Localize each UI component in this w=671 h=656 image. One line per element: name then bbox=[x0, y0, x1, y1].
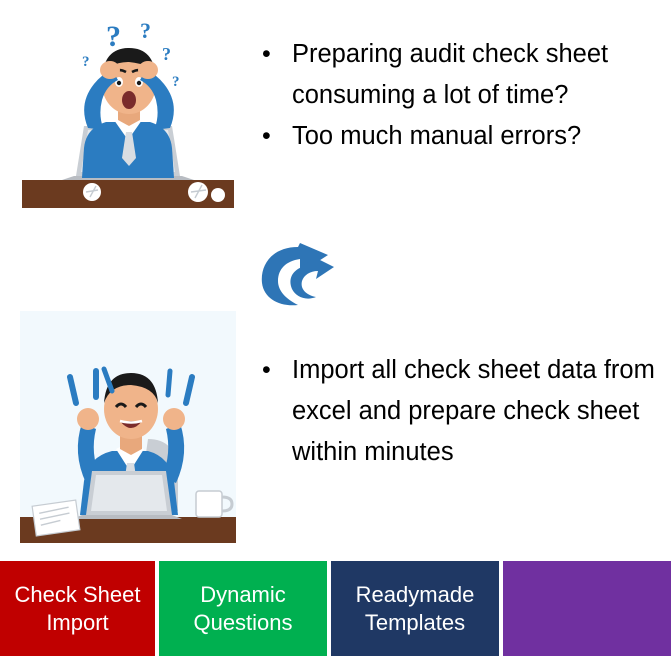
list-item: • Too much manual errors? bbox=[258, 116, 668, 157]
arrow-svg bbox=[258, 243, 338, 309]
bullet-icon: • bbox=[262, 34, 271, 75]
list-item: • Preparing audit check sheet consuming … bbox=[258, 34, 668, 116]
solution-bullet-list: • Import all check sheet data from excel… bbox=[258, 350, 671, 473]
frustrated-office-worker-illustration: ? ? ? ? ? bbox=[22, 8, 234, 208]
bullet-icon: • bbox=[262, 116, 271, 157]
frustrated-worker-svg: ? ? ? ? ? bbox=[22, 8, 234, 208]
feature-tile-label: Readymade Templates bbox=[337, 581, 493, 637]
problem-section: ? ? ? ? ? • Preparing audit check sheet … bbox=[0, 0, 671, 215]
problem-bullet-list: • Preparing audit check sheet consuming … bbox=[258, 34, 668, 157]
feature-tile-label: Dynamic Questions bbox=[165, 581, 321, 637]
svg-text:?: ? bbox=[140, 18, 151, 43]
feature-tile-label: Check Sheet Import bbox=[6, 581, 149, 637]
feature-tile-purple[interactable] bbox=[503, 561, 671, 656]
feature-bar: Check Sheet Import Dynamic Questions Rea… bbox=[0, 561, 671, 656]
happy-office-worker-illustration bbox=[20, 311, 236, 543]
bullet-icon: • bbox=[262, 350, 271, 391]
bullet-text: Import all check sheet data from excel a… bbox=[292, 356, 655, 466]
bullet-text: Too much manual errors? bbox=[292, 122, 581, 150]
svg-text:?: ? bbox=[106, 20, 121, 53]
feature-tile-dynamic-questions[interactable]: Dynamic Questions bbox=[159, 561, 327, 656]
curved-transition-arrow-icon bbox=[258, 243, 338, 309]
svg-text:?: ? bbox=[162, 44, 171, 64]
bullet-text: Preparing audit check sheet consuming a … bbox=[292, 40, 608, 109]
feature-tile-check-sheet-import[interactable]: Check Sheet Import bbox=[0, 561, 155, 656]
list-item: • Import all check sheet data from excel… bbox=[258, 350, 671, 473]
svg-text:?: ? bbox=[172, 74, 180, 90]
svg-text:?: ? bbox=[82, 54, 90, 70]
feature-tile-readymade-templates[interactable]: Readymade Templates bbox=[331, 561, 499, 656]
happy-worker-svg bbox=[20, 311, 236, 543]
